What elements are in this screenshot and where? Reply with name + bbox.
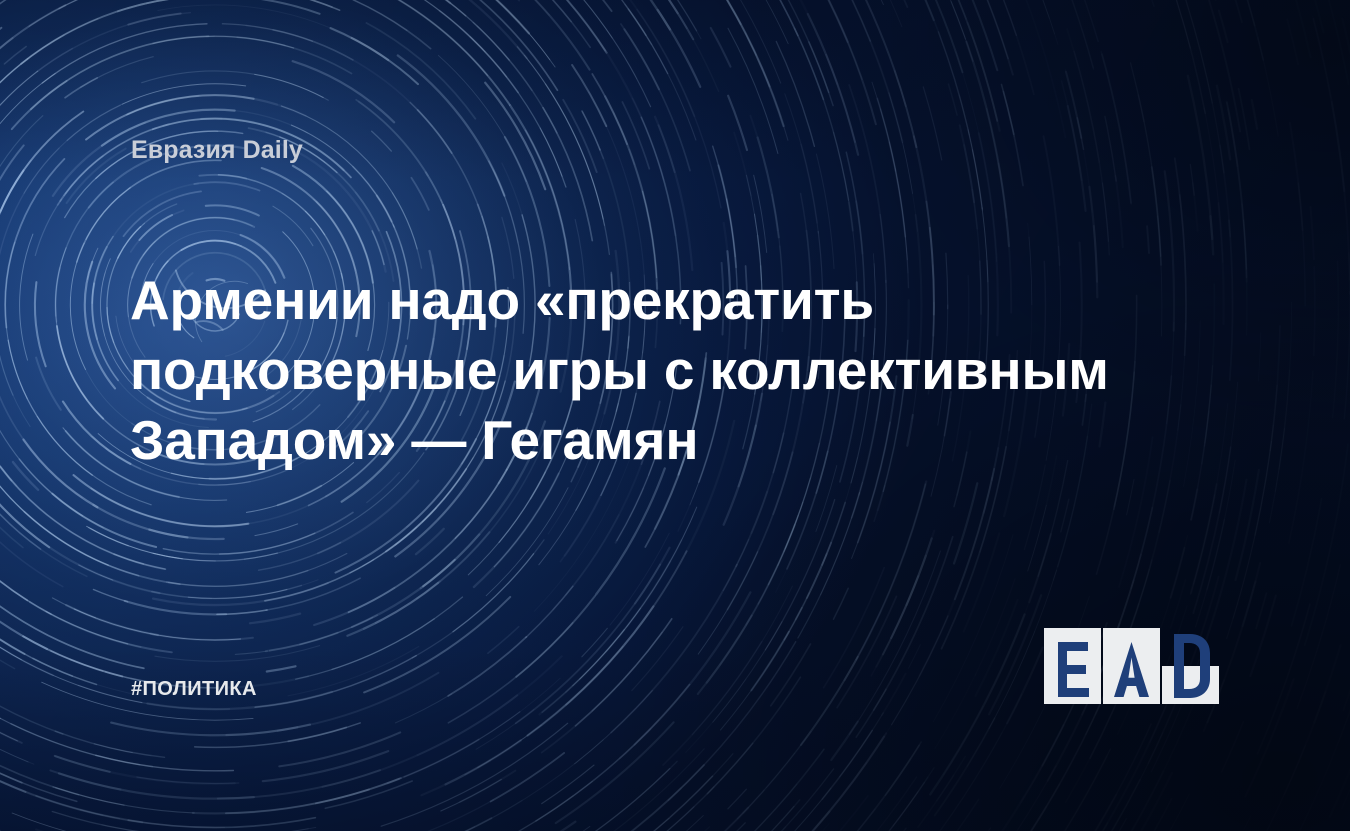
eadaily-logo: [1044, 628, 1220, 704]
social-share-card: Евразия Daily Армении надо «прекратить п…: [0, 0, 1350, 831]
letter-e-icon: [1044, 628, 1101, 704]
logo-tile-d: [1162, 628, 1219, 704]
letter-d-split-icon: [1162, 628, 1219, 704]
logo-tile-e: [1044, 628, 1101, 704]
logo-tile-a: [1103, 628, 1160, 704]
brand-name: Евразия Daily: [131, 136, 303, 165]
page-title: Армении надо «прекратить подковерные игр…: [130, 265, 1120, 475]
category-tag: #ПОЛИТИКА: [131, 678, 257, 701]
letter-a-icon: [1103, 628, 1160, 704]
